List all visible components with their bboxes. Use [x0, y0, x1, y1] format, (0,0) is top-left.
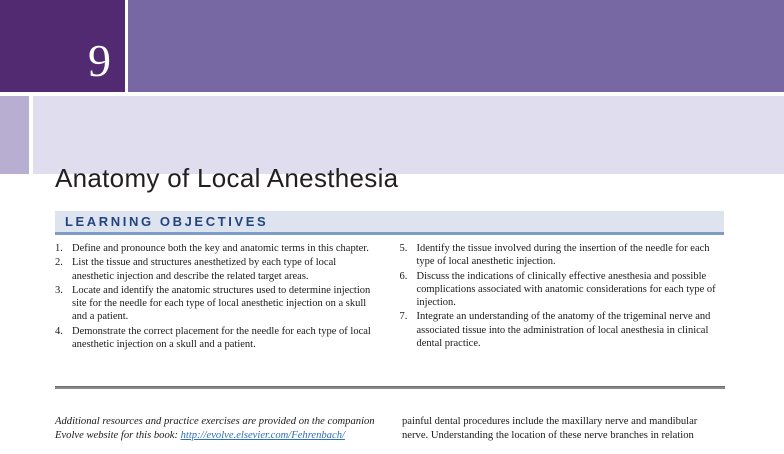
- objective-text: Locate and identify the anatomic structu…: [72, 284, 380, 324]
- list-item: 4. Demonstrate the correct placement for…: [55, 325, 380, 352]
- objective-number: 3.: [55, 284, 72, 324]
- title-band-fill: [33, 96, 784, 174]
- chapter-banner-bar: [128, 0, 784, 92]
- body-paragraph-right: painful dental procedures include the ma…: [402, 415, 725, 444]
- learning-objectives-title: LEARNING OBJECTIVES: [65, 214, 268, 229]
- objective-text: Integrate an understanding of the anatom…: [417, 310, 725, 350]
- objective-number: 1.: [55, 242, 72, 255]
- list-item: 2. List the tissue and structures anesth…: [55, 256, 380, 283]
- list-item: 7. Integrate an understanding of the ana…: [400, 310, 725, 350]
- page-title: Anatomy of Local Anesthesia: [55, 163, 398, 194]
- list-item: 3. Locate and identify the anatomic stru…: [55, 284, 380, 324]
- objective-text: Identify the tissue involved during the …: [417, 242, 725, 269]
- objective-number: 4.: [55, 325, 72, 352]
- evolve-website-link[interactable]: http://evolve.elsevier.com/Fehrenbach/: [181, 430, 345, 441]
- list-item: 5. Identify the tissue involved during t…: [400, 242, 725, 269]
- list-item: 1. Define and pronounce both the key and…: [55, 242, 380, 255]
- objective-text: List the tissue and structures anestheti…: [72, 256, 380, 283]
- objective-number: 7.: [400, 310, 417, 350]
- learning-objectives-header: LEARNING OBJECTIVES: [55, 211, 724, 235]
- learning-objectives-box: LEARNING OBJECTIVES 1. Define and pronou…: [55, 211, 724, 352]
- title-band-accent: [0, 96, 29, 174]
- evolve-resources-note: Additional resources and practice exerci…: [55, 415, 378, 444]
- body-text-columns: Additional resources and practice exerci…: [55, 404, 725, 454]
- objective-text: Demonstrate the correct placement for th…: [72, 325, 380, 352]
- objective-number: 6.: [400, 270, 417, 310]
- list-item: 6. Discuss the indications of clinically…: [400, 270, 725, 310]
- objectives-right-column: 5. Identify the tissue involved during t…: [400, 242, 725, 352]
- section-divider: [55, 386, 725, 389]
- chapter-title-band: Anatomy of Local Anesthesia: [0, 96, 784, 174]
- learning-objectives-columns: 1. Define and pronounce both the key and…: [55, 242, 724, 352]
- chapter-number-block: 9: [0, 0, 125, 92]
- objectives-left-column: 1. Define and pronounce both the key and…: [55, 242, 380, 352]
- objective-text: Define and pronounce both the key and an…: [72, 242, 380, 255]
- objective-number: 2.: [55, 256, 72, 283]
- chapter-banner: 9: [0, 0, 784, 92]
- objective-number: 5.: [400, 242, 417, 269]
- objective-text: Discuss the indications of clinically ef…: [417, 270, 725, 310]
- chapter-number: 9: [88, 38, 111, 84]
